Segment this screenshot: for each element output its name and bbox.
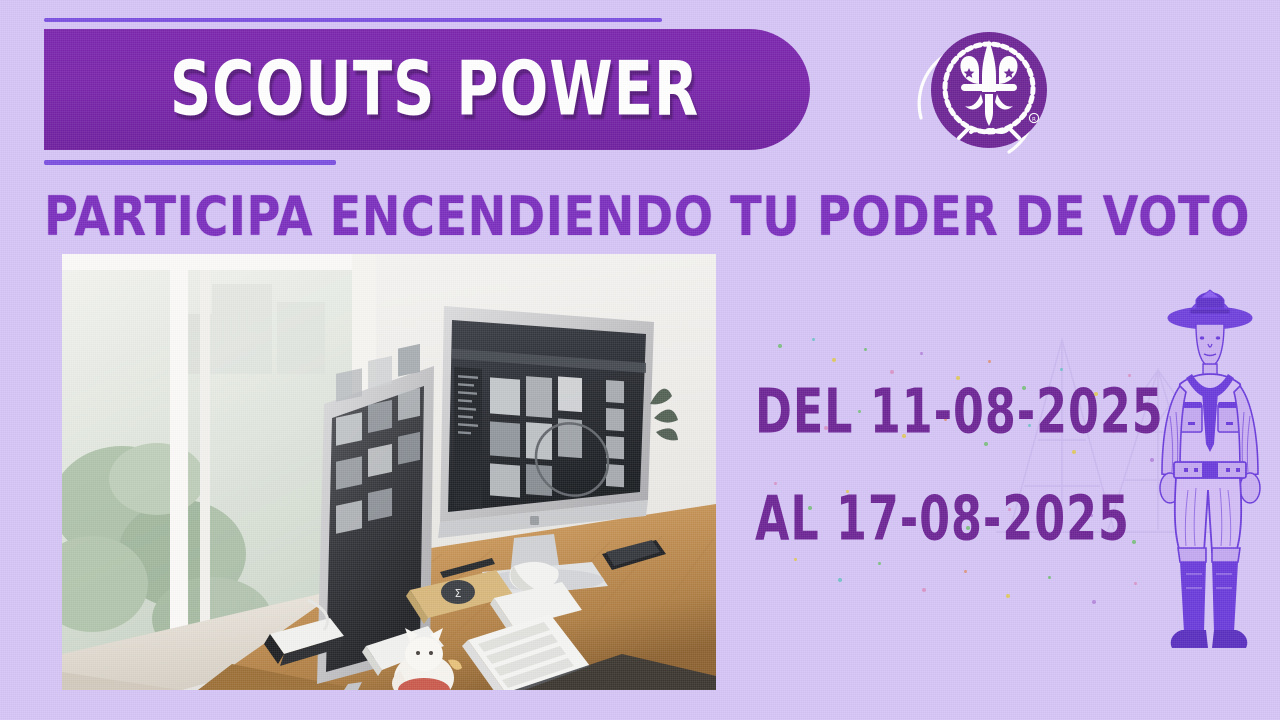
date-from: DEL 11-08-2025 xyxy=(755,382,1164,443)
confetti-speck xyxy=(838,578,842,582)
confetti-speck xyxy=(832,358,836,362)
date-to: AL 17-08-2025 xyxy=(755,489,1164,550)
confetti-speck xyxy=(812,338,815,341)
confetti-speck xyxy=(1048,576,1051,579)
confetti-speck xyxy=(864,348,867,351)
confetti-speck xyxy=(1092,600,1096,604)
poster-title: SCOUTS POWER xyxy=(155,52,700,127)
wosm-scout-emblem-icon: R xyxy=(901,14,1059,172)
confetti-speck xyxy=(922,588,926,592)
scout-uniform-illustration xyxy=(1140,276,1280,666)
confetti-speck xyxy=(878,562,881,565)
top-decorative-rule xyxy=(44,18,662,22)
bottom-decorative-rule xyxy=(44,160,336,165)
workspace-desk-photo: Σ xyxy=(62,254,716,690)
svg-text:R: R xyxy=(1032,117,1036,123)
svg-text:Σ: Σ xyxy=(455,587,462,600)
confetti-speck xyxy=(794,558,797,561)
confetti-speck xyxy=(920,352,923,355)
confetti-speck xyxy=(964,570,967,573)
confetti-speck xyxy=(778,344,782,348)
title-banner: SCOUTS POWER xyxy=(44,29,810,150)
confetti-speck xyxy=(890,370,894,374)
poster-subtitle: PARTICIPA ENCENDIENDO TU PODER DE VOTO xyxy=(44,190,1187,245)
confetti-speck xyxy=(1134,582,1137,585)
event-dates: DEL 11-08-2025 AL 17-08-2025 xyxy=(755,382,1185,541)
poster-canvas: SCOUTS POWER xyxy=(0,0,1280,720)
confetti-speck xyxy=(1006,594,1010,598)
